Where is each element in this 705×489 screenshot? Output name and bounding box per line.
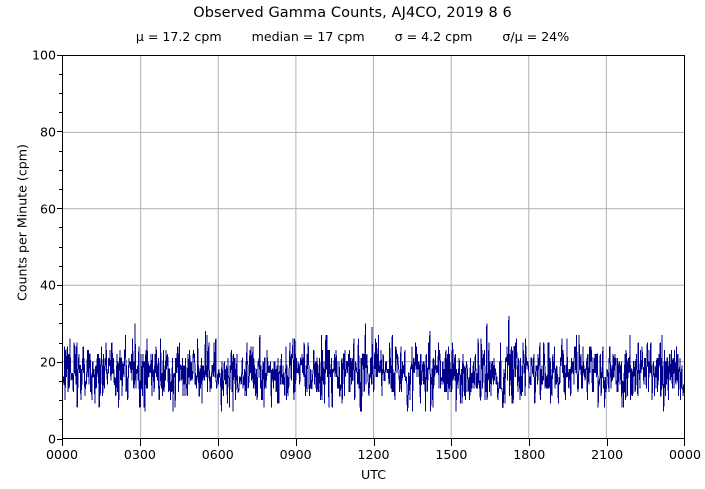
stat-sigma-over-mu: σ/μ = 24% [502, 29, 569, 44]
chart-title: Observed Gamma Counts, AJ4CO, 2019 8 6 [0, 5, 705, 21]
y-tick-label: 60 [4, 201, 56, 216]
x-tick-mark-major [374, 439, 375, 446]
y-tick-label: 80 [4, 124, 56, 139]
y-tick-label: 20 [4, 355, 56, 370]
x-tick-label: 0000 [645, 447, 705, 462]
x-tick-label: 0600 [178, 447, 258, 462]
x-tick-mark-major [218, 439, 219, 446]
stat-sigma: σ = 4.2 cpm [395, 29, 473, 44]
stat-mean: μ = 17.2 cpm [136, 29, 222, 44]
x-tick-mark-major [62, 439, 63, 446]
x-tick-label: 1500 [411, 447, 491, 462]
x-axis-label: UTC [62, 467, 685, 482]
x-axis-tick-labels: 000003000600090012001500180021000000 [62, 447, 685, 467]
x-tick-label: 2100 [567, 447, 647, 462]
x-tick-label: 0300 [100, 447, 180, 462]
gamma-counts-chart-figure: Observed Gamma Counts, AJ4CO, 2019 8 6 μ… [0, 0, 705, 489]
x-tick-mark-major [296, 439, 297, 446]
x-tick-mark-major [607, 439, 608, 446]
x-tick-label: 0000 [22, 447, 102, 462]
gamma-counts-series-line [63, 56, 684, 438]
x-tick-mark-major [529, 439, 530, 446]
y-tick-label: 0 [4, 432, 56, 447]
x-tick-label: 1800 [489, 447, 569, 462]
x-tick-mark-major [684, 439, 685, 446]
x-tick-mark-major [451, 439, 452, 446]
x-tick-label: 1200 [334, 447, 414, 462]
plot-area [62, 55, 685, 439]
x-axis-tick-marks [62, 439, 685, 447]
y-tick-label: 40 [4, 278, 56, 293]
x-tick-mark-major [140, 439, 141, 446]
y-axis-tick-labels: 020406080100 [0, 55, 56, 439]
series-path [63, 316, 684, 412]
y-tick-label: 100 [4, 48, 56, 63]
chart-statistics-subtitle: μ = 17.2 cpmmedian = 17 cpmσ = 4.2 cpmσ/… [0, 29, 705, 44]
x-tick-label: 0900 [256, 447, 336, 462]
stat-median: median = 17 cpm [252, 29, 365, 44]
